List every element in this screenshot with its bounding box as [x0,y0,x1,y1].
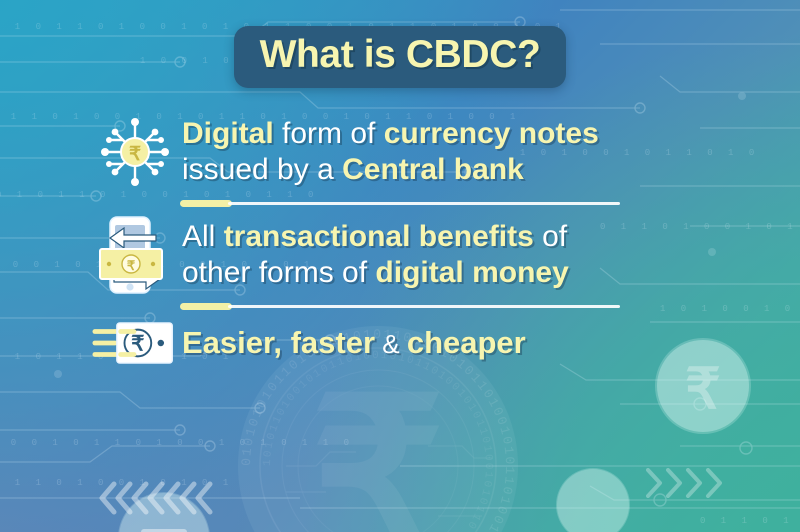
point-plain: other forms of [182,256,375,289]
divider-line [228,305,620,308]
point-emphasis: transactional benefits [224,220,534,253]
point-text-2: All transactional benefits of other form… [178,219,569,291]
point-item-3: ₹ Easier, faster & cheaper [0,310,800,376]
points-list: ₹ Digital form of currency notes issued … [0,104,800,376]
svg-text:₹: ₹ [129,144,141,165]
infographic-poster: 0 1 0 1 1 0 1 0 0 1 0 1 0 1 1 0 0 1 0 1 … [0,0,800,532]
chevron-arrows-right-decoration [640,466,750,500]
point-plain: All [182,220,224,253]
point-emphasis: cheaper [407,325,526,360]
point-line: other forms of digital money [182,255,569,291]
title-badge: What is CBDC? [234,26,567,88]
point-line: Easier, faster & cheaper [182,325,526,362]
point-plain: form of [274,117,384,150]
divider-line [228,202,620,205]
svg-text:₹: ₹ [127,258,136,273]
point-plain: issued by a [182,153,342,186]
divider-accent-segment [180,200,232,207]
point-line: Digital form of currency notes [182,116,599,152]
point-item-1: ₹ Digital form of currency notes issued … [0,104,800,200]
divider-accent-segment [180,303,232,310]
point-line: issued by a Central bank [182,152,599,188]
point-line: All transactional benefits of [182,219,569,255]
fast-cash-icon: ₹ [92,315,178,371]
divider-2 [180,303,620,310]
digital-rupee-network-icon: ₹ [92,114,178,190]
title-container: What is CBDC? [0,26,800,88]
point-text-3: Easier, faster & cheaper [178,325,526,362]
point-emphasis: Central bank [342,153,524,186]
page-title: What is CBDC? [260,33,541,77]
svg-text:₹: ₹ [311,358,445,532]
mobile-money-transfer-icon: ₹ [92,213,178,297]
point-item-2: ₹ All transactional benefits of other fo… [0,207,800,303]
point-emphasis: digital money [375,256,568,289]
divider-1 [180,200,620,207]
point-emphasis: currency notes [384,117,599,150]
point-plain: of [534,220,567,253]
point-emphasis: Digital [182,117,274,150]
point-text-1: Digital form of currency notes issued by… [178,116,599,188]
point-ampersand: & [375,329,407,359]
rupee-coin-glow-center [556,468,630,532]
chevron-arrows-left-decoration [96,478,226,518]
point-emphasis: Easier, faster [182,325,375,360]
